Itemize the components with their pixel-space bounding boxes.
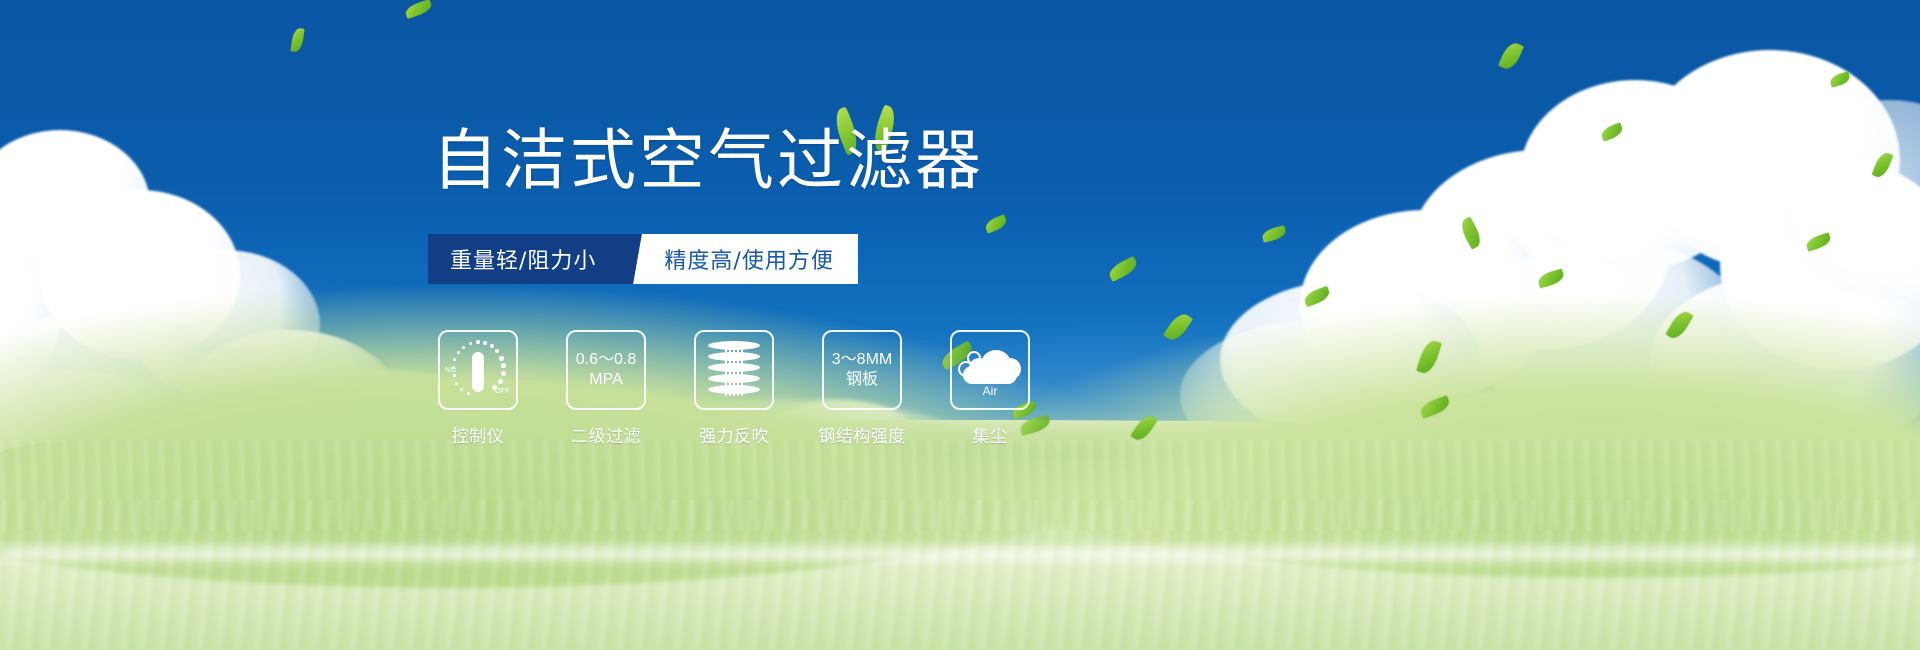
badge-high-precision-easy-use: 精度高/使用方便 [656,234,857,284]
gauge-label-off: OFF [495,388,510,395]
feature-dust-collection: Air 集尘 [950,330,1030,447]
feature-label: 集尘 [973,422,1008,447]
steel-thickness: 3～8MM [832,350,892,370]
feature-strong-backblow: 强力反吹 [694,330,774,447]
feature-icon-box: NO OFF [438,330,518,410]
feature-icon-box: 0.6～0.8 MPA [566,330,646,410]
gauge-label-no: NO [445,367,456,374]
filter-stack-icon [708,341,760,399]
badge-lightweight-low-resistance: 重量轻/阻力小 [428,234,622,284]
feature-icon-list: NO OFF 控制仪 0.6～0.8 MPA 二级过滤 [438,330,1030,447]
feature-steel-strength: 3～8MM 钢板 钢结构强度 [822,330,902,447]
gauge-needle [472,352,484,392]
steel-material: 钢板 [832,370,892,390]
feature-label: 控制仪 [452,422,505,447]
feature-controller: NO OFF 控制仪 [438,330,518,447]
feature-icon-box: Air [950,330,1030,410]
badge-divider [622,234,656,284]
feature-icon-box: 3～8MM 钢板 [822,330,902,410]
pressure-range: 0.6～0.8 [576,350,637,370]
pressure-unit: MPA [576,370,637,390]
feature-icon-box [694,330,774,410]
feature-label: 二级过滤 [571,422,641,447]
feature-label: 钢结构强度 [818,422,906,447]
air-cloud-icon: Air [957,344,1023,396]
product-banner: 自洁式空气过滤器 重量轻/阻力小 精度高/使用方便 [0,0,1920,650]
banner-content: 自洁式空气过滤器 重量轻/阻力小 精度高/使用方便 [0,0,1920,650]
page-title: 自洁式空气过滤器 [432,128,984,194]
gauge-icon: NO OFF [444,336,512,404]
air-label: Air [957,384,1023,398]
feature-label: 强力反吹 [699,422,769,447]
tagline-badges: 重量轻/阻力小 精度高/使用方便 [428,234,858,284]
pressure-text-icon: 0.6～0.8 MPA [576,350,637,390]
steel-plate-text-icon: 3～8MM 钢板 [832,350,892,390]
feature-secondary-filtration: 0.6～0.8 MPA 二级过滤 [566,330,646,447]
